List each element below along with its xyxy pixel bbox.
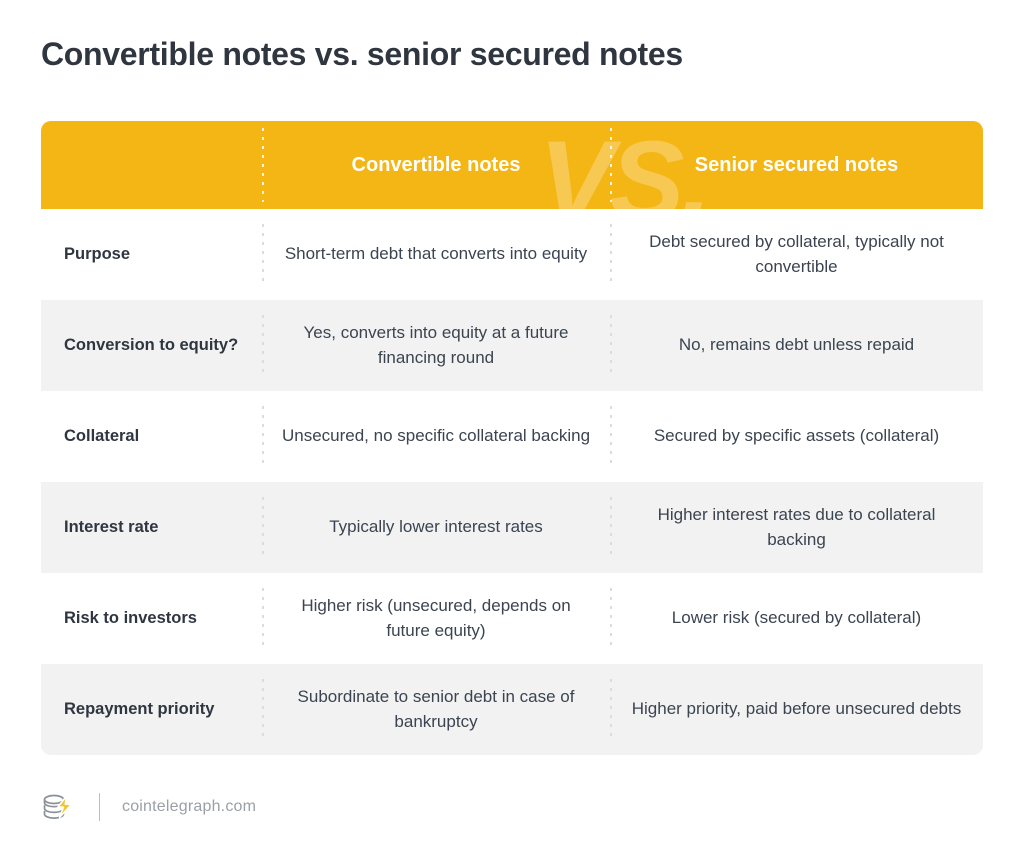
row-cell-senior: Secured by specific assets (collateral)	[610, 424, 983, 449]
row-divider-2	[610, 497, 612, 559]
infographic-page: Convertible notes vs. senior secured not…	[0, 0, 1024, 866]
row-cell-convertible: Higher risk (unsecured, depends on futur…	[262, 594, 610, 643]
row-divider-1	[262, 679, 264, 741]
table-row: Risk to investors Higher risk (unsecured…	[41, 573, 983, 664]
header-column-1: Convertible notes	[262, 151, 610, 180]
row-cell-convertible: Subordinate to senior debt in case of ba…	[262, 685, 610, 734]
row-label: Collateral	[41, 425, 262, 447]
row-label: Purpose	[41, 243, 262, 265]
row-divider-1	[262, 588, 264, 650]
comparison-table: VS. Convertible notes Senior secured not…	[41, 121, 983, 755]
header-divider-2	[610, 128, 612, 202]
row-divider-1	[262, 224, 264, 286]
row-divider-1	[262, 406, 264, 468]
row-divider-2	[610, 406, 612, 468]
table-row: Repayment priority Subordinate to senior…	[41, 664, 983, 755]
row-cell-senior: Lower risk (secured by collateral)	[610, 606, 983, 631]
page-title: Convertible notes vs. senior secured not…	[41, 36, 683, 73]
header-column-2: Senior secured notes	[610, 151, 983, 180]
header-divider-1	[262, 128, 264, 202]
row-label: Repayment priority	[41, 698, 262, 720]
row-divider-2	[610, 679, 612, 741]
table-row: Interest rate Typically lower interest r…	[41, 482, 983, 573]
row-divider-1	[262, 497, 264, 559]
cointelegraph-logo-icon	[41, 791, 77, 823]
row-divider-2	[610, 315, 612, 377]
row-cell-senior: Higher priority, paid before unsecured d…	[610, 697, 983, 722]
row-label: Conversion to equity?	[41, 334, 262, 356]
footer-separator	[99, 793, 100, 821]
row-cell-senior: Higher interest rates due to collateral …	[610, 503, 983, 552]
row-label: Interest rate	[41, 516, 262, 538]
row-label: Risk to investors	[41, 607, 262, 629]
row-cell-convertible: Yes, converts into equity at a future fi…	[262, 321, 610, 370]
row-divider-2	[610, 588, 612, 650]
row-divider-2	[610, 224, 612, 286]
row-divider-1	[262, 315, 264, 377]
row-cell-senior: Debt secured by collateral, typically no…	[610, 230, 983, 279]
row-cell-senior: No, remains debt unless repaid	[610, 333, 983, 358]
table-row: Conversion to equity? Yes, converts into…	[41, 300, 983, 391]
footer-site-label: cointelegraph.com	[122, 798, 256, 816]
row-cell-convertible: Typically lower interest rates	[262, 515, 610, 540]
table-row: Collateral Unsecured, no specific collat…	[41, 391, 983, 482]
table-row: Purpose Short-term debt that converts in…	[41, 209, 983, 300]
footer: cointelegraph.com	[41, 789, 256, 825]
table-header-row: VS. Convertible notes Senior secured not…	[41, 121, 983, 209]
row-cell-convertible: Unsecured, no specific collateral backin…	[262, 424, 610, 449]
row-cell-convertible: Short-term debt that converts into equit…	[262, 242, 610, 267]
